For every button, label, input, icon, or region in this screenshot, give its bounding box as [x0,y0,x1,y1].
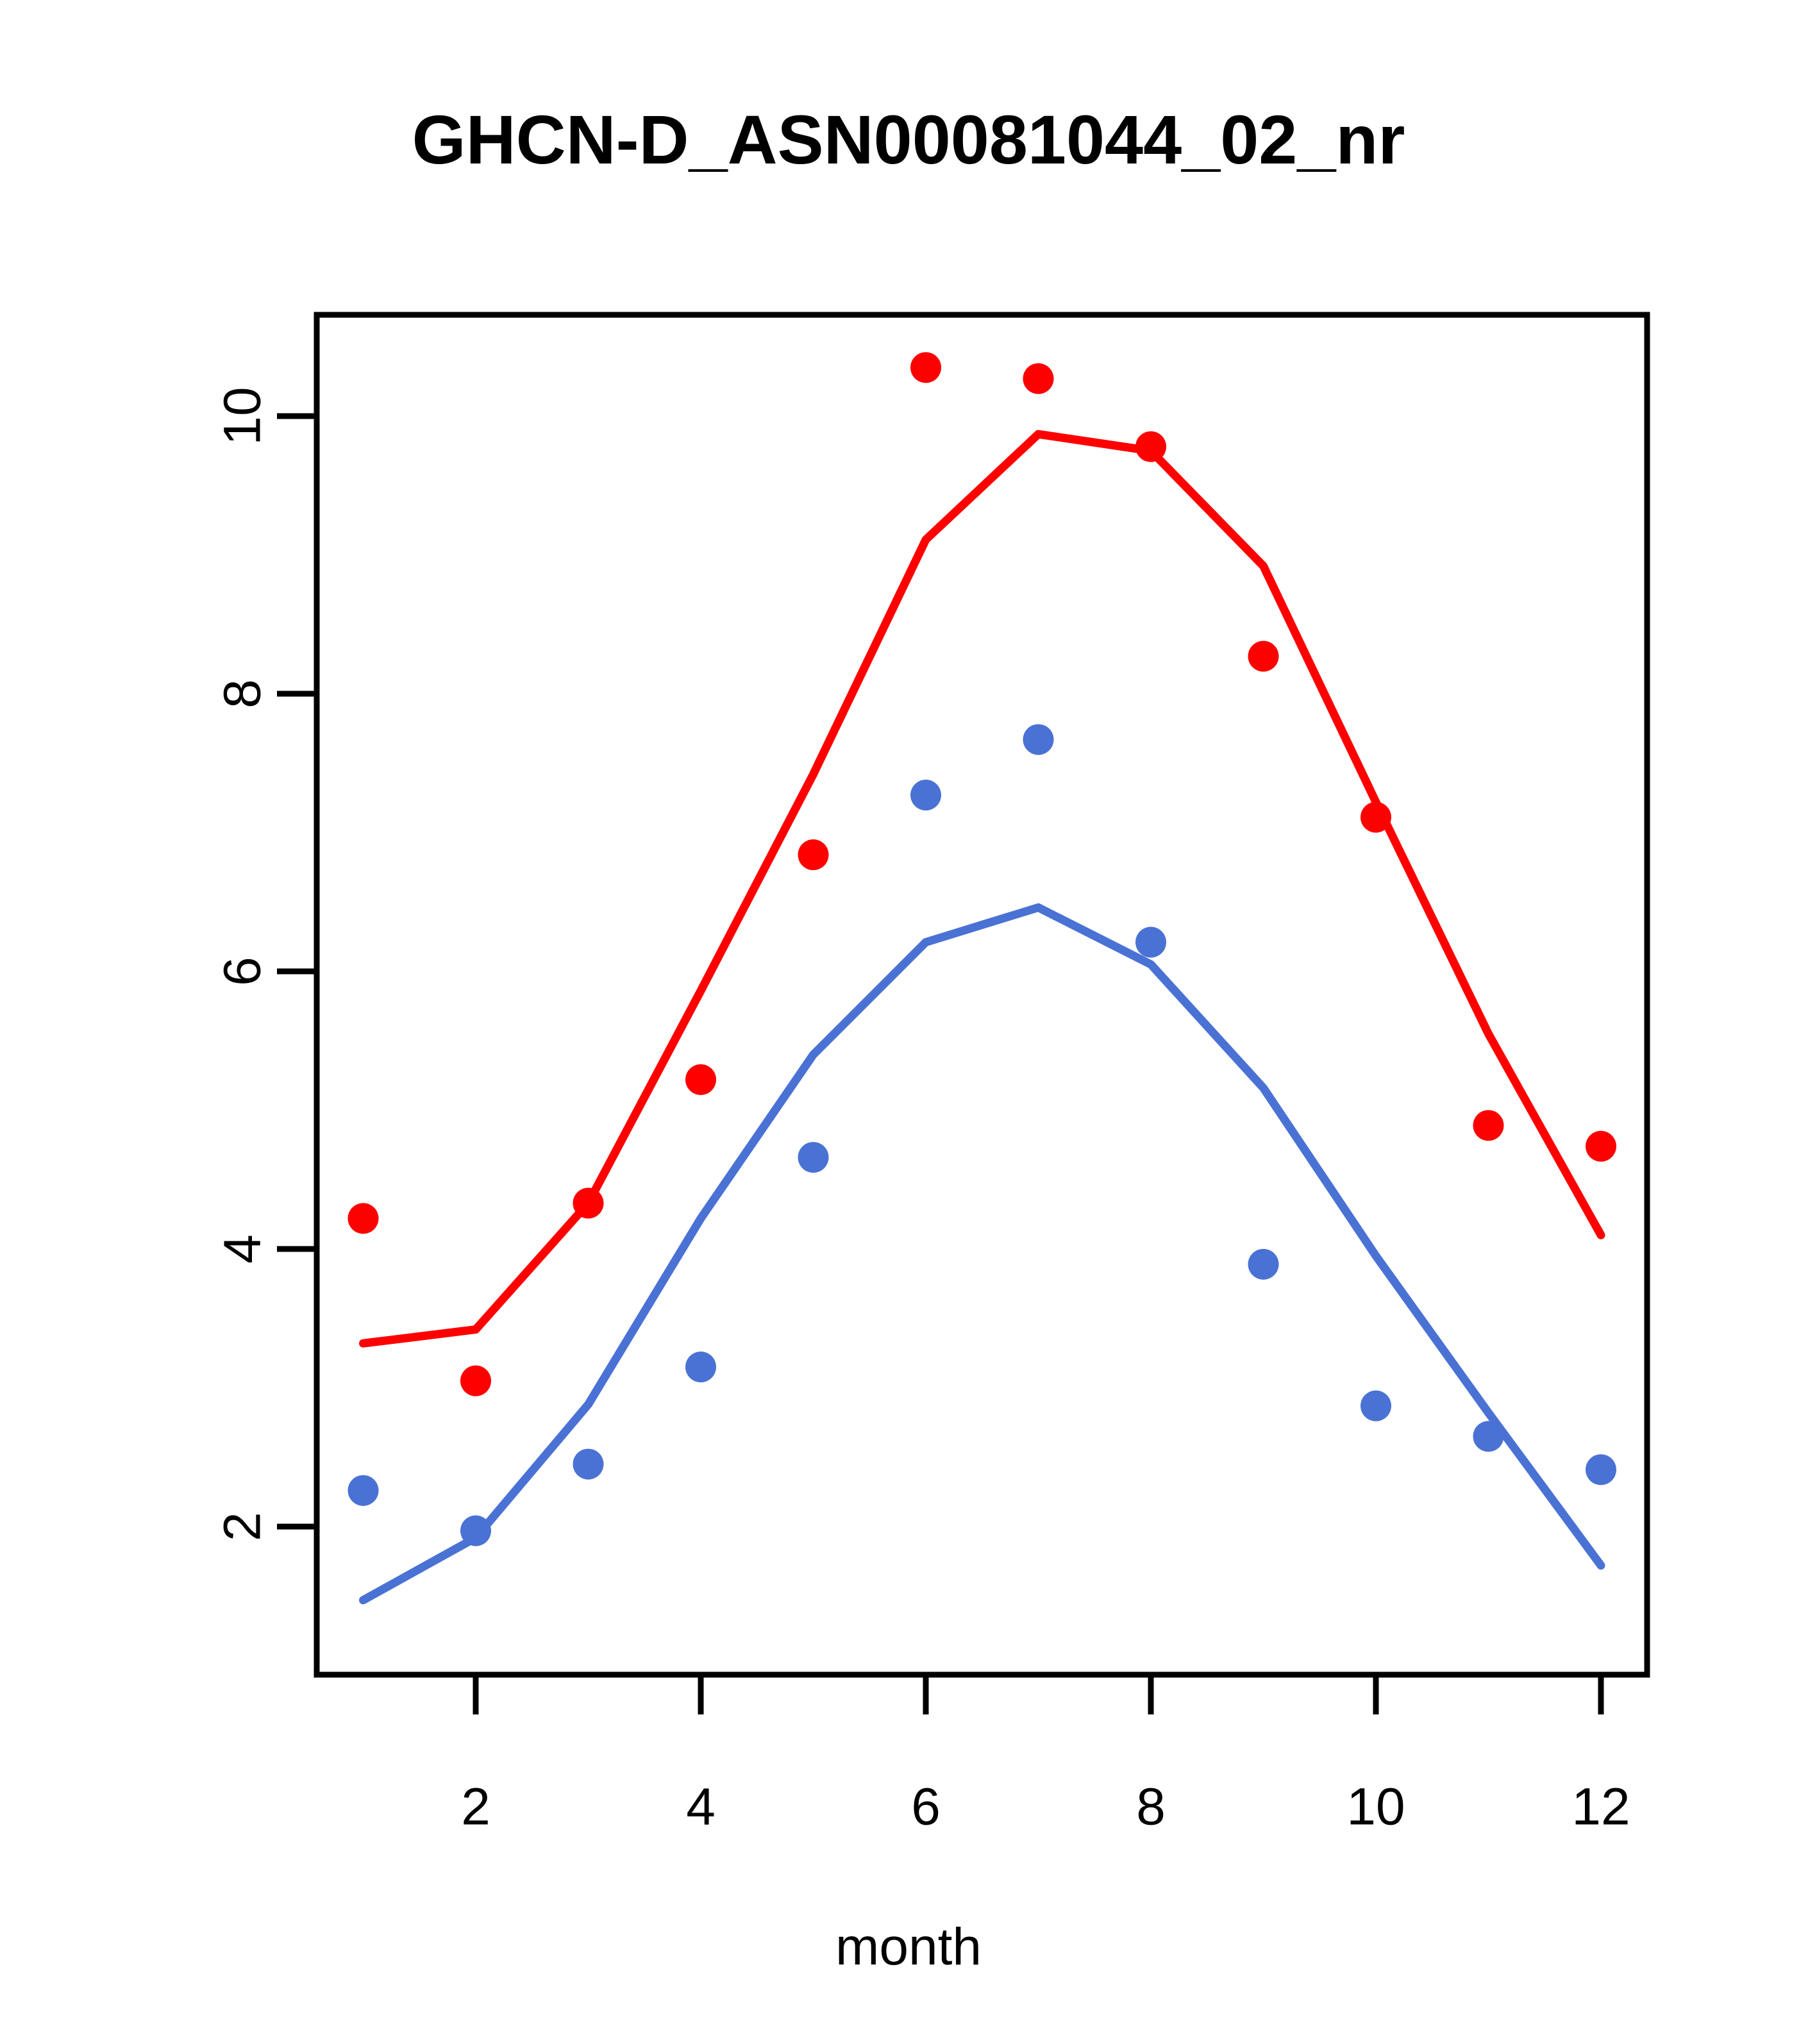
y-axis-tick-labels: 246810 [214,387,272,1541]
data-point [1361,1391,1391,1421]
series-layer [348,352,1617,1600]
data-point [910,780,941,810]
x-axis-label: month [0,1917,1817,1977]
x-tick-label: 12 [1571,1777,1630,1836]
data-point [460,1366,491,1396]
x-tick-label: 10 [1346,1777,1405,1836]
x-tick-label: 2 [461,1777,490,1836]
data-point [348,1475,379,1506]
series-line-blue-line [364,907,1602,1600]
x-tick-label: 8 [1136,1777,1166,1836]
data-point [1248,641,1279,672]
y-tick-label: 2 [214,1512,272,1541]
data-point [1248,1249,1279,1280]
data-point [798,1142,829,1173]
chart-canvas: GHCN-D_ASN00081044_02_nr 246810 24681012… [0,0,1817,2044]
x-tick-label: 6 [911,1777,941,1836]
data-point [685,1352,716,1382]
data-point [1586,1454,1616,1485]
data-point [1023,724,1054,755]
chart-plot-area: 246810 24681012 [0,0,1817,2044]
data-point [1473,1110,1504,1141]
x-tick-label: 4 [686,1777,716,1836]
data-point [910,352,941,383]
data-point [1586,1131,1616,1162]
y-tick-label: 10 [214,387,272,445]
data-point [1023,364,1054,394]
data-point [685,1064,716,1095]
y-tick-label: 8 [214,679,272,708]
x-axis-ticks [476,1675,1601,1714]
y-axis-ticks [277,416,317,1527]
data-point [1135,927,1166,958]
series-points-red-points [348,352,1617,1396]
series-line-red-line [364,434,1602,1343]
data-point [798,839,829,870]
data-point [348,1203,379,1234]
y-tick-label: 4 [214,1234,272,1264]
data-point [573,1449,604,1480]
series-points-blue-points [348,724,1617,1546]
plot-frame [317,315,1647,1675]
y-tick-label: 6 [214,957,272,986]
x-axis-tick-labels: 24681012 [461,1777,1630,1836]
